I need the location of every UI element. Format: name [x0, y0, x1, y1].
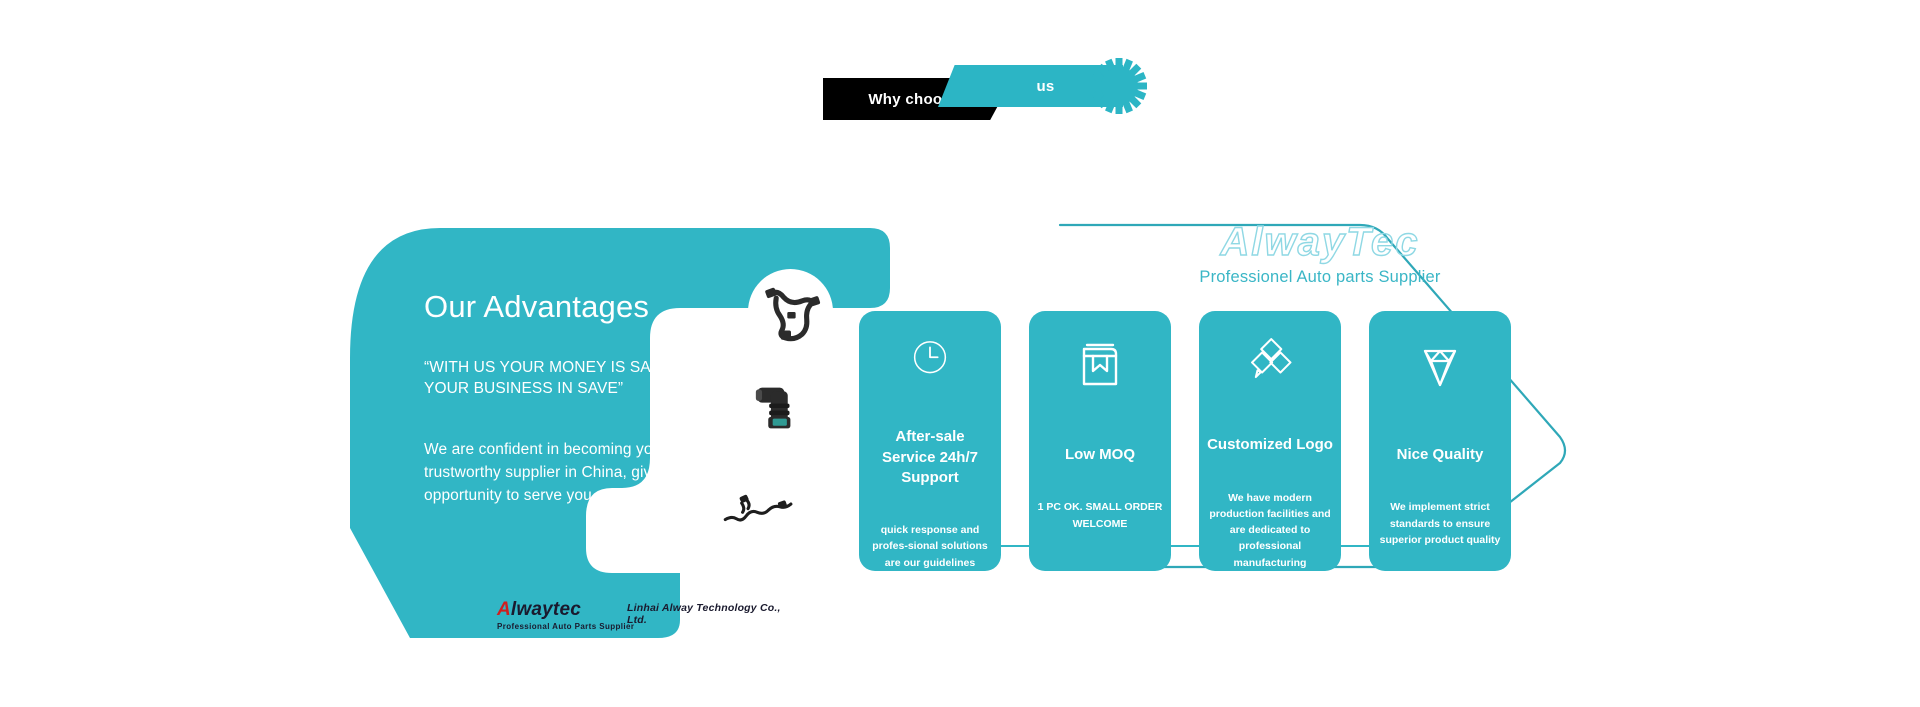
infographic-canvas: Why choose us	[0, 0, 1920, 707]
card-connector-2	[1171, 545, 1199, 547]
footer-brand-rest: lwaytec	[511, 599, 581, 620]
book-bookmark-icon	[1071, 337, 1129, 395]
header-banner: Why choose us	[823, 60, 1153, 120]
feature-card-title: Low MOQ	[1065, 445, 1135, 465]
feature-card-desc: We have modern production facilities and…	[1207, 490, 1333, 571]
diamond-icon	[1411, 337, 1469, 395]
feature-card-nice-quality[interactable]: Nice Quality We implement strict standar…	[1369, 311, 1511, 571]
product-photo-circle-3	[714, 470, 804, 560]
feature-card-customized-logo[interactable]: Customized Logo We have modern productio…	[1199, 311, 1341, 571]
quick-connector-elbow-photo	[747, 377, 809, 439]
gear-icon	[1091, 58, 1147, 114]
alwaytec-watermark-logo: AlwayTec Professionel Auto parts Supplie…	[1160, 222, 1480, 287]
auto-hose-assembly-photo	[754, 275, 828, 349]
feature-card-desc: We implement strict standards to ensure …	[1377, 499, 1503, 548]
advantages-title: Our Advantages	[424, 290, 714, 324]
fuel-line-photo	[718, 474, 800, 556]
product-photo-circle-2	[742, 372, 814, 444]
footer-company-block: Linhai Alway Technology Co., Ltd.	[627, 602, 802, 628]
feature-card-title: Customized Logo	[1207, 435, 1333, 455]
feature-card-title: After-sale Service 24h/7 Support	[867, 427, 993, 488]
advantages-quote: “WITH US YOUR MONEY IS SAFE AND YOUR BUS…	[424, 358, 714, 400]
watermark-brand: AlwayTec	[1160, 222, 1480, 262]
feature-card-low-moq[interactable]: Low MOQ 1 PC OK. SMALL ORDER WELCOME	[1029, 311, 1171, 571]
feature-card-desc: quick response and profes-sional solutio…	[867, 522, 993, 571]
footer-company-name: Linhai Alway Technology Co., Ltd.	[627, 602, 802, 626]
product-photo-circle-1	[748, 269, 833, 354]
watermark-tagline: Professionel Auto parts Supplier	[1160, 268, 1480, 287]
advantages-body: We are confident in becoming your most t…	[424, 438, 714, 508]
feature-card-title: Nice Quality	[1397, 445, 1484, 465]
clock-icon	[901, 337, 959, 377]
card-connector-3	[1341, 545, 1369, 547]
customized-logo-icon	[1241, 337, 1299, 385]
card-connector-1	[1001, 545, 1029, 547]
footer-company-logo: Alwaytec Professional Auto Parts Supplie…	[497, 600, 797, 631]
left-text-block: Our Advantages “WITH US YOUR MONEY IS SA…	[424, 290, 714, 508]
footer-brand-initial: A	[497, 599, 511, 620]
feature-card-desc: 1 PC OK. SMALL ORDER WELCOME	[1037, 499, 1163, 532]
banner-us-label: us	[1006, 78, 1054, 95]
feature-card-after-sale-service[interactable]: After-sale Service 24h/7 Support quick r…	[859, 311, 1001, 571]
